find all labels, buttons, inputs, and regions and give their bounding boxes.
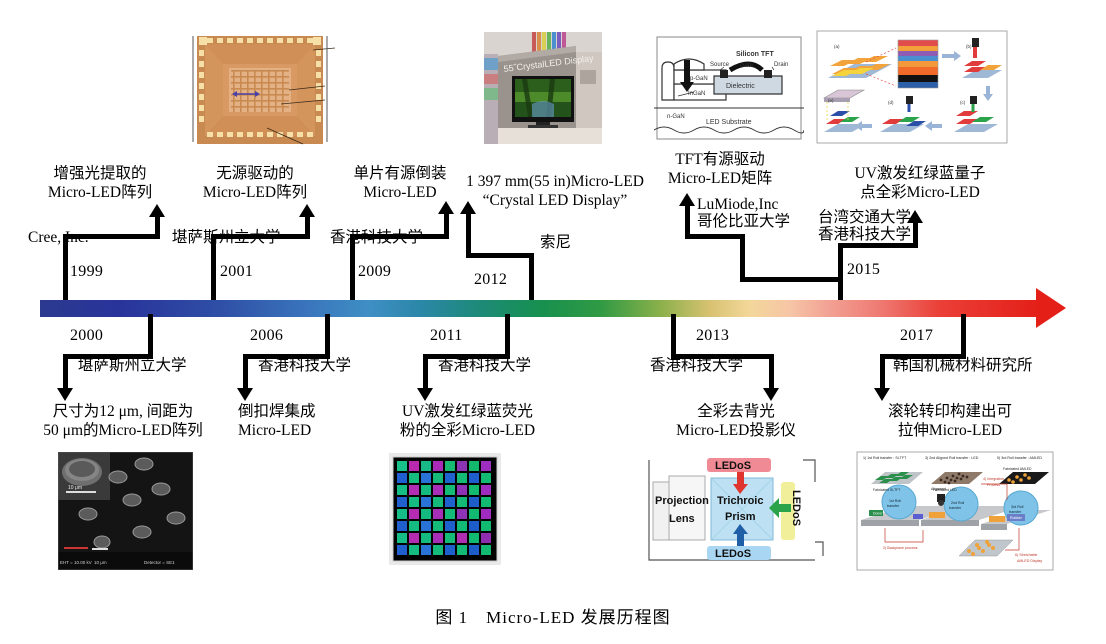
svg-text:Dielectric: Dielectric xyxy=(726,83,755,90)
org-label-2009: 香港科技大学 xyxy=(330,229,423,246)
timeline-axis-bar xyxy=(40,300,1040,317)
connector-2017-stem xyxy=(961,314,966,358)
svg-text:transfer: transfer xyxy=(887,504,900,508)
event-desc-2009: 单片有源倒装 Micro-LED xyxy=(330,164,470,203)
year-label-2006: 2006 xyxy=(250,328,283,344)
connector-2006-stem xyxy=(325,314,330,358)
image-tft-led-cross-section-diagram: Silicon TFT Source Gate Drain p-GaN InGa… xyxy=(654,34,804,142)
svg-text:transfer: transfer xyxy=(1009,510,1022,514)
svg-text:3rd Roll: 3rd Roll xyxy=(1011,505,1024,509)
event-desc-2006: 倒扣焊集成 Micro-LED xyxy=(238,402,398,441)
connector-2009-arrowhead xyxy=(438,201,454,214)
svg-text:(b): (b) xyxy=(966,44,972,49)
event-desc-2001: 无源驱动的 Micro-LED阵列 xyxy=(175,164,335,203)
svg-text:InGaN: InGaN xyxy=(688,91,705,97)
svg-text:LED Substrate: LED Substrate xyxy=(706,119,752,126)
connector-2000-arrowhead xyxy=(57,388,73,401)
event-desc-2000: 尺寸为12 μm, 间距为 50 μm的Micro-LED阵列 xyxy=(18,402,228,441)
connector-2001-arrowhead xyxy=(299,204,315,217)
svg-text:Fabricated Si-TFT: Fabricated Si-TFT xyxy=(873,488,900,492)
svg-text:Process: Process xyxy=(987,483,1000,487)
svg-text:Projection: Projection xyxy=(655,495,709,507)
svg-text:1) 1st Roll transfer : Si-TFT: 1) 1st Roll transfer : Si-TFT xyxy=(863,456,907,460)
svg-text:transfer: transfer xyxy=(949,506,962,510)
connector-2001-riser xyxy=(305,216,310,238)
svg-text:(e): (e) xyxy=(828,98,834,103)
svg-text:(a): (a) xyxy=(834,44,840,49)
connector-2017-arrowhead xyxy=(874,388,890,401)
svg-text:1st Roll: 1st Roll xyxy=(889,499,901,503)
svg-text:p-GaN: p-GaN xyxy=(690,76,708,82)
svg-text:Lens: Lens xyxy=(669,513,695,525)
org-label-2013: 香港科技大学 xyxy=(650,357,743,374)
connector-2015-riser xyxy=(913,222,918,247)
svg-text:Trichroic: Trichroic xyxy=(717,495,763,507)
year-label-2017: 2017 xyxy=(900,328,933,344)
svg-text:Silicon TFT: Silicon TFT xyxy=(736,51,774,58)
connector-2015-elbow xyxy=(838,243,918,248)
connector-2011-stem xyxy=(505,314,510,358)
year-label-1999: 1999 xyxy=(70,264,103,280)
image-micro-led-chip-array-photo xyxy=(185,28,335,146)
org-label-2000: 堪萨斯州立大学 xyxy=(78,357,187,374)
org-label-2011: 香港科技大学 xyxy=(438,357,531,374)
svg-text:LEDoS: LEDoS xyxy=(715,548,751,560)
connector-2012-stem xyxy=(529,253,534,302)
org-label-2017: 韩国机械材料研究所 xyxy=(893,357,1033,374)
org-label-2006: 香港科技大学 xyxy=(258,357,351,374)
event-desc-lumiode: TFT有源驱动 Micro-LED矩阵 xyxy=(640,150,800,189)
connector-2015-stem xyxy=(838,243,843,302)
year-label-2013: 2013 xyxy=(696,328,729,344)
svg-text:2) Backplane process: 2) Backplane process xyxy=(883,546,918,550)
svg-text:2nd Roll: 2nd Roll xyxy=(951,501,964,505)
svg-text:Detector = SE1: Detector = SE1 xyxy=(144,560,175,565)
org-label-2012: 索尼 xyxy=(540,234,571,251)
image-micro-led-sem-micrograph: 10 μm EHT = 10.00 kV 10 μm Detector = SE… xyxy=(58,452,193,570)
event-desc-2011: UV激发红绿蓝荧光 粉的全彩Micro-LED xyxy=(375,402,560,441)
connector-2006-arrowhead xyxy=(237,388,253,401)
year-label-2001: 2001 xyxy=(220,264,253,280)
year-label-2015: 2015 xyxy=(847,262,880,278)
connector-lumiode-arrowhead xyxy=(679,193,695,206)
connector-1999-arrowhead xyxy=(149,204,165,217)
image-sony-crystal-led-display-photo: 55˝CrystalLED Display xyxy=(484,32,602,144)
svg-text:Fabricated AMLED: Fabricated AMLED xyxy=(1003,467,1032,471)
figure-caption: 图 1 Micro-LED 发展历程图 xyxy=(0,603,1106,628)
connector-2009-riser xyxy=(444,213,449,238)
connector-2006-drop xyxy=(243,354,248,390)
connector-lumiode-elbow-upper xyxy=(685,234,743,239)
svg-text:10 μm: 10 μm xyxy=(68,485,82,491)
image-quantum-dot-process-flow-diagram: (a)(b) (c)(d)(e) xyxy=(814,28,1010,146)
connector-2017-drop xyxy=(880,354,885,390)
year-label-2009: 2009 xyxy=(358,264,391,280)
year-label-2011: 2011 xyxy=(430,328,463,344)
connector-2011-drop xyxy=(423,354,428,390)
connector-2000-stem xyxy=(148,314,153,358)
svg-text:Alignment: Alignment xyxy=(931,487,946,491)
event-desc-2013: 全彩去背光 Micro-LED投影仪 xyxy=(646,402,826,441)
org-label-2015: 台湾交通大学 香港科技大学 xyxy=(818,209,911,244)
connector-lumiode-riser xyxy=(685,205,690,237)
svg-text:AMLED Display: AMLED Display xyxy=(1017,559,1042,563)
svg-text:3) 2nd Aligned Roll transfer :: 3) 2nd Aligned Roll transfer : LED xyxy=(925,456,979,460)
svg-text:n-GaN: n-GaN xyxy=(667,114,685,120)
svg-text:Rubber: Rubber xyxy=(1010,516,1023,520)
image-full-color-micro-led-pixel-array-photo xyxy=(389,453,501,565)
svg-text:Drain: Drain xyxy=(774,62,788,68)
connector-2000-drop xyxy=(63,354,68,390)
connector-2012-riser xyxy=(466,213,471,257)
year-label-2000: 2000 xyxy=(70,328,103,344)
image-led-projector-optics-diagram: Trichroic Prism Projection Lens LEDoS LE… xyxy=(645,452,830,570)
connector-2011-arrowhead xyxy=(417,388,433,401)
event-desc-2012: 1 397 mm(55 in)Micro-LED “Crystal LED Di… xyxy=(455,172,655,211)
svg-text:5) 3rd Roll transfer : AMLED: 5) 3rd Roll transfer : AMLED xyxy=(997,456,1042,460)
micro-led-timeline-figure: 55˝CrystalLED Display xyxy=(0,0,1106,644)
svg-text:EHT = 10.00 kV: EHT = 10.00 kV xyxy=(60,560,92,565)
connector-2012-elbow xyxy=(466,253,534,258)
event-desc-2017: 滚轮转印构建出可 拉伸Micro-LED xyxy=(855,402,1045,441)
svg-text:LEDoS: LEDoS xyxy=(790,490,802,526)
connector-lumiode-riser-mid xyxy=(740,234,745,281)
connector-2013-stem xyxy=(671,314,676,358)
svg-text:(d): (d) xyxy=(888,100,894,105)
org-label-1999: Cree, Inc. xyxy=(28,229,89,246)
event-desc-2015: UV激发红绿蓝量子 点全彩Micro-LED xyxy=(820,164,1020,203)
svg-text:Gate: Gate xyxy=(740,63,754,69)
svg-text:Donor: Donor xyxy=(873,512,883,516)
svg-text:10 μm: 10 μm xyxy=(94,560,107,565)
connector-2013-arrowhead xyxy=(763,388,779,401)
svg-text:LEDoS: LEDoS xyxy=(715,460,751,472)
connector-1999-riser xyxy=(155,216,160,238)
connector-lumiode-elbow-lower xyxy=(740,277,840,282)
year-label-2012: 2012 xyxy=(474,272,507,288)
org-label-lumiode: LuMiode,Inc 哥伦比亚大学 xyxy=(697,196,790,231)
svg-text:Source: Source xyxy=(710,62,730,68)
svg-text:4) Integration: 4) Integration xyxy=(983,477,1004,481)
event-desc-1999: 增强光提取的 Micro-LED阵列 xyxy=(20,164,180,203)
connector-2013-drop xyxy=(769,354,774,390)
timeline-arrow-head xyxy=(1036,288,1066,328)
svg-text:(c): (c) xyxy=(960,100,966,105)
svg-text:6) Stretchable: 6) Stretchable xyxy=(1015,553,1037,557)
org-label-2001: 堪萨斯州立大学 xyxy=(172,229,281,246)
image-roll-transfer-process-diagram: 1st Rolltransfer 2nd Rolltransfer 3rd Ro… xyxy=(855,450,1055,572)
svg-text:Prism: Prism xyxy=(725,511,756,523)
